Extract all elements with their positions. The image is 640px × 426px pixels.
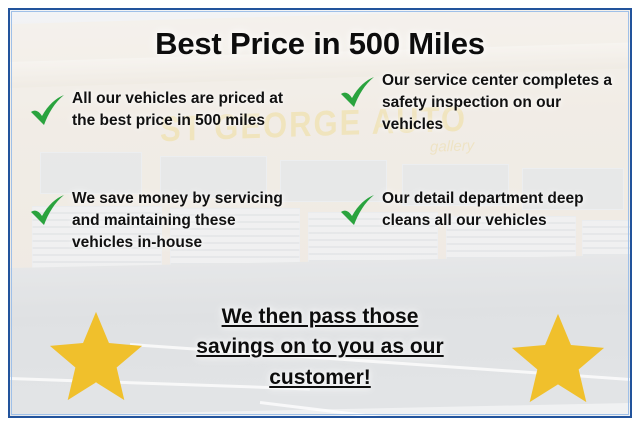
closing-statement: We then pass those savings on to you as … — [142, 302, 498, 393]
closing-line: savings on to you as our — [196, 335, 443, 358]
benefit-item: We save money by servicing and maintaini… — [28, 188, 300, 254]
benefit-item: All our vehicles are priced at the best … — [28, 88, 296, 132]
benefit-text: All our vehicles are priced at the best … — [72, 88, 296, 132]
banner-title: Best Price in 500 Miles — [10, 26, 630, 62]
promo-banner: ST GEORGE AUTO gallery Best Price in 500… — [0, 0, 640, 426]
green-check-icon — [28, 92, 68, 130]
benefit-text: Our service center completes a safety in… — [382, 70, 620, 136]
gold-star-icon — [510, 310, 606, 406]
banner-content: Best Price in 500 Miles All our vehicles… — [10, 10, 630, 416]
benefit-text: Our detail department deep cleans all ou… — [382, 188, 610, 232]
benefit-item: Our service center completes a safety in… — [338, 70, 620, 136]
gold-star-icon — [48, 308, 144, 404]
green-check-icon — [338, 74, 378, 112]
green-check-icon — [28, 192, 68, 230]
green-check-icon — [338, 192, 378, 230]
closing-line: We then pass those — [222, 305, 419, 328]
benefit-item: Our detail department deep cleans all ou… — [338, 188, 610, 232]
closing-line: customer! — [269, 366, 371, 389]
benefit-text: We save money by servicing and maintaini… — [72, 188, 300, 254]
